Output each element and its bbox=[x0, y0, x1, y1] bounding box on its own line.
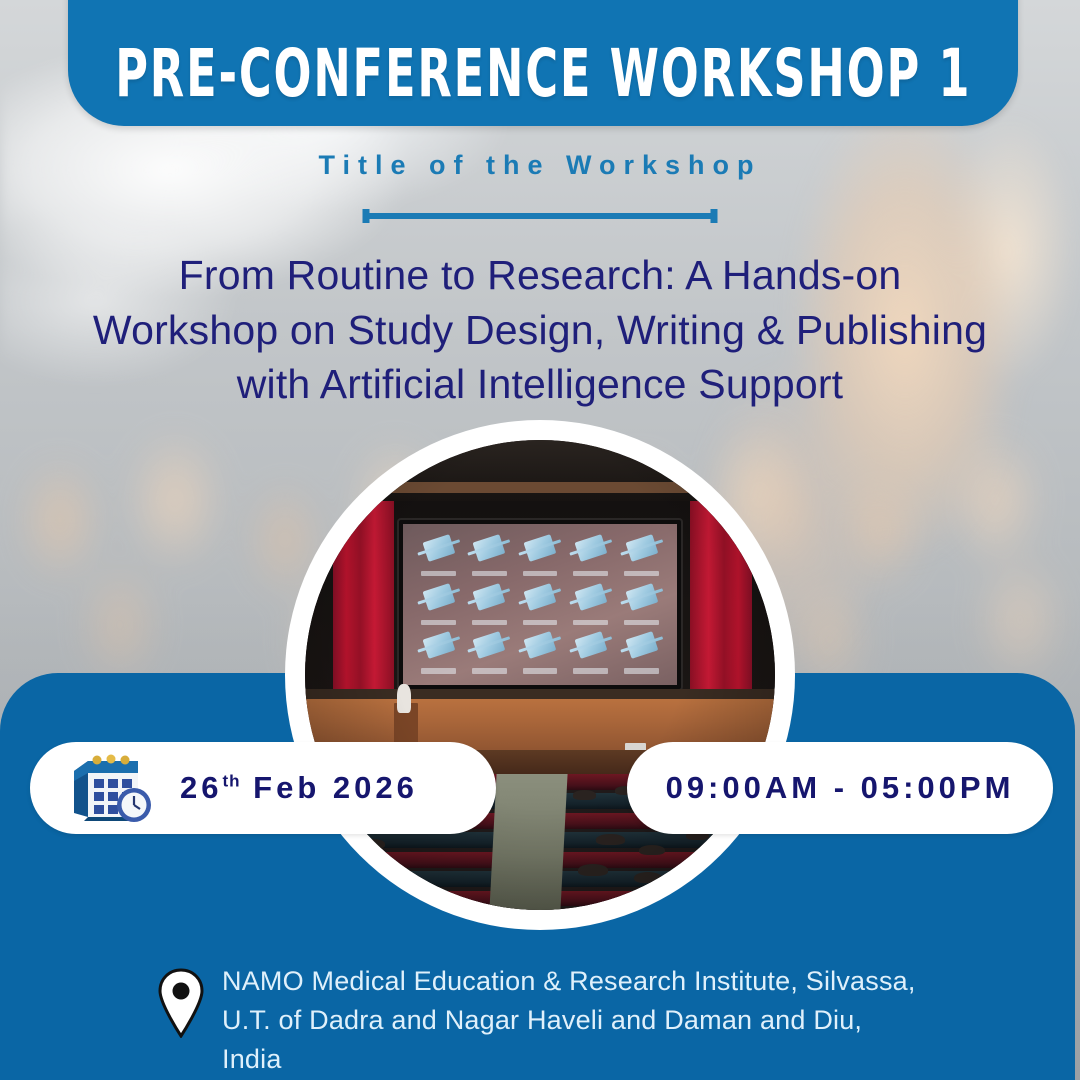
poster-canvas: PRE-CONFERENCE WORKSHOP 1 Title of the W… bbox=[0, 0, 1080, 1080]
auditorium-photo bbox=[305, 440, 775, 910]
calendar-clock-icon bbox=[66, 751, 154, 825]
location-pin-icon bbox=[158, 968, 204, 1038]
header-title: PRE-CONFERENCE WORKSHOP 1 bbox=[115, 35, 971, 112]
date-ordinal: th bbox=[222, 772, 240, 791]
horizontal-rule-with-end-caps-icon bbox=[362, 205, 718, 227]
header-bar: PRE-CONFERENCE WORKSHOP 1 bbox=[68, 0, 1018, 126]
date-pill: 26th Feb 2026 bbox=[30, 742, 496, 834]
location-line-1: NAMO Medical Education & Research Instit… bbox=[222, 962, 922, 1001]
time-pill: 09:00AM - 05:00PM bbox=[627, 742, 1053, 834]
eyebrow-label: Title of the Workshop bbox=[0, 150, 1080, 181]
footer-location: NAMO Medical Education & Research Instit… bbox=[0, 962, 1080, 1079]
location-text: NAMO Medical Education & Research Instit… bbox=[222, 962, 922, 1079]
location-line-2: U.T. of Dadra and Nagar Haveli and Daman… bbox=[222, 1001, 922, 1079]
date-rest: Feb 2026 bbox=[241, 770, 418, 805]
divider bbox=[362, 205, 718, 227]
page-title: From Routine to Research: A Hands-on Wor… bbox=[90, 248, 990, 412]
date-day: 26 bbox=[180, 770, 222, 805]
time-text: 09:00AM - 05:00PM bbox=[666, 770, 1015, 806]
date-text: 26th Feb 2026 bbox=[180, 770, 418, 806]
